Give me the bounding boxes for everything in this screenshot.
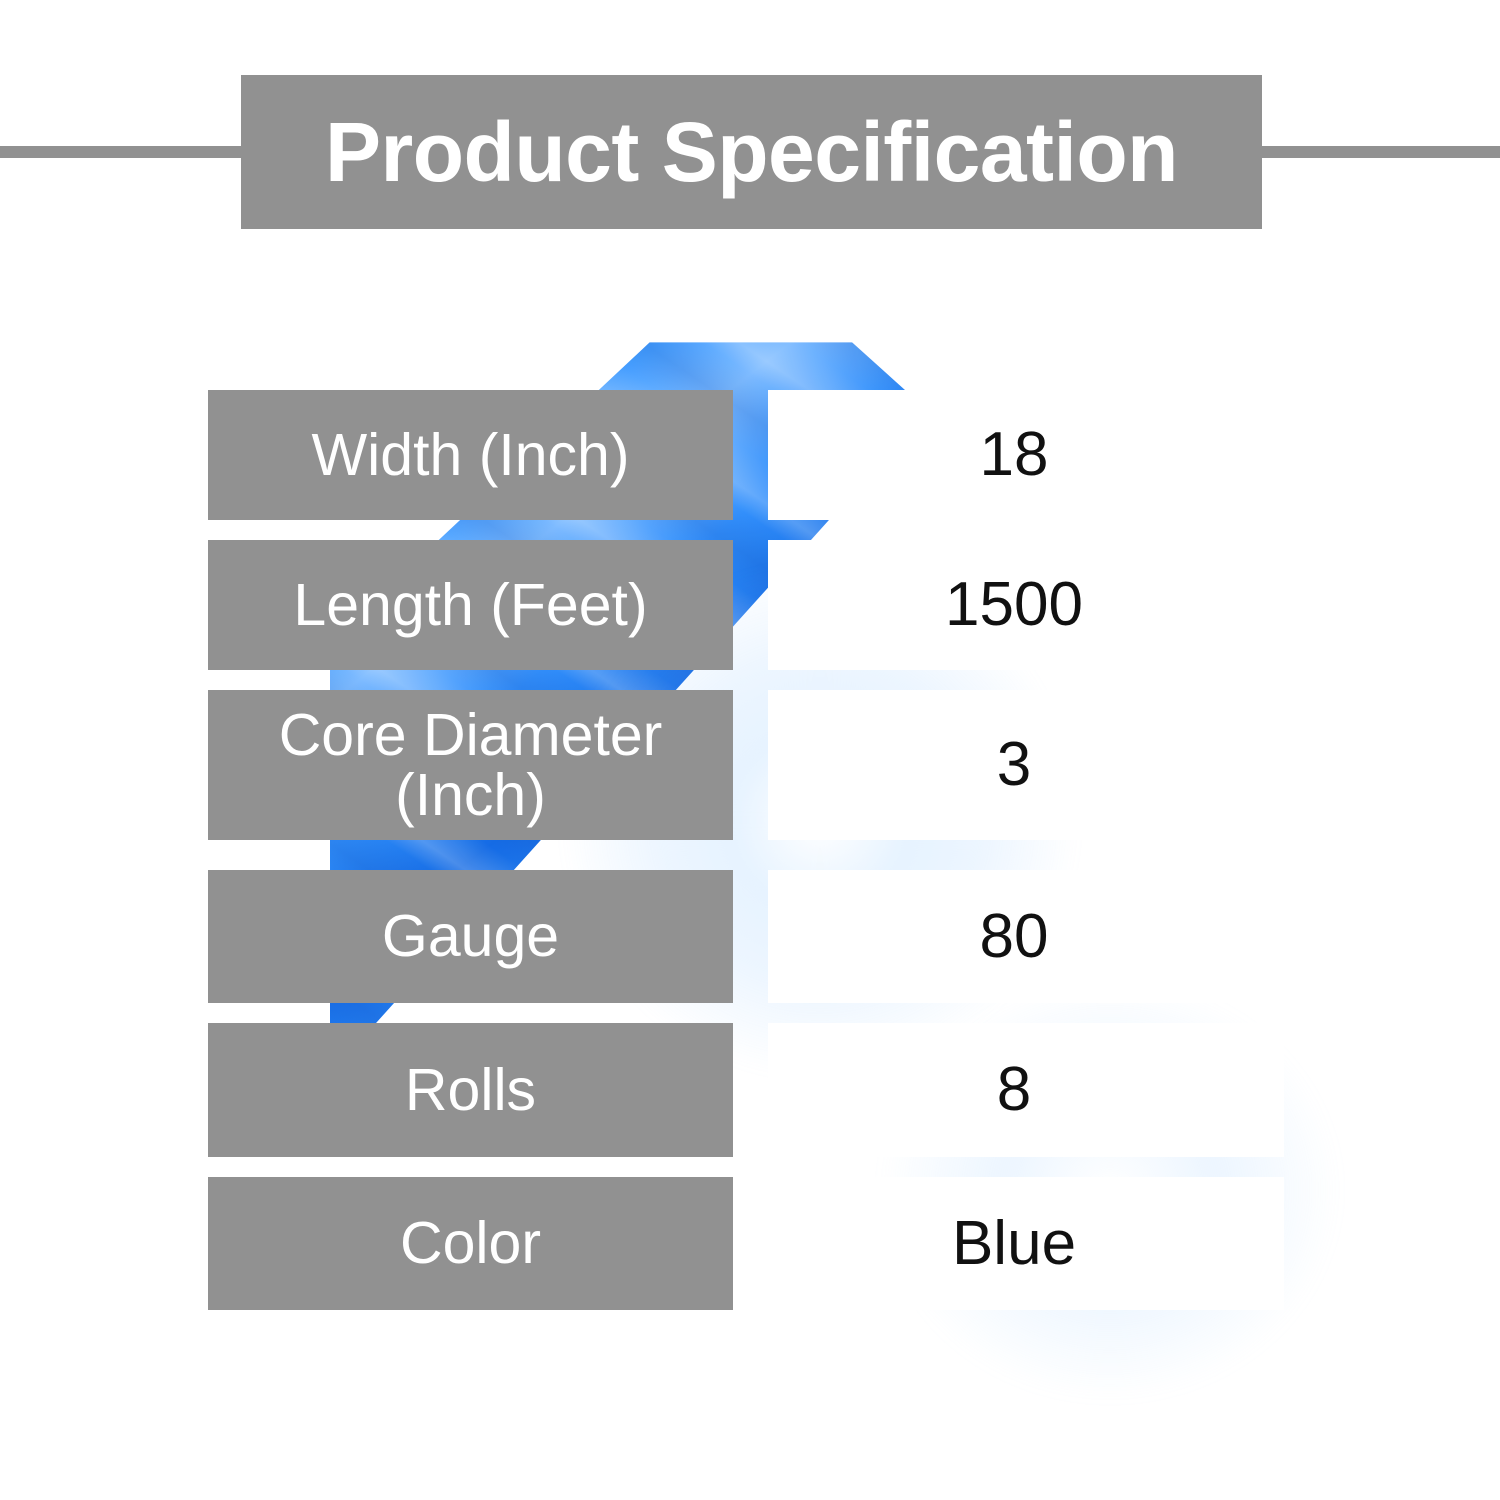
spec-label-cell: Gauge [208, 870, 733, 1003]
spec-value-text: 3 [997, 734, 1031, 796]
spec-value-cell: 1500 [768, 540, 1284, 670]
spec-label-cell: Rolls [208, 1023, 733, 1157]
spec-label-cell: Core Diameter (Inch) [208, 690, 733, 840]
spec-value-text: 8 [997, 1059, 1031, 1121]
spec-value-text: Blue [952, 1213, 1076, 1275]
spec-label-cell: Width (Inch) [208, 390, 733, 520]
product-specification-page: Product Specification Width (Inch) 18 Le… [0, 0, 1500, 1500]
spec-value-cell: Blue [768, 1177, 1284, 1310]
spec-value-text: 18 [980, 424, 1049, 486]
spec-label-text: Gauge [382, 906, 559, 966]
table-row: Gauge 80 [0, 870, 1500, 1003]
spec-value-text: 1500 [945, 574, 1083, 636]
table-row: Core Diameter (Inch) 3 [0, 690, 1500, 840]
table-row: Color Blue [0, 1177, 1500, 1310]
table-row: Length (Feet) 1500 [0, 540, 1500, 670]
spec-value-cell: 80 [768, 870, 1284, 1003]
spec-label-text: Core Diameter (Inch) [279, 705, 663, 825]
spec-label-text: Width (Inch) [311, 425, 629, 485]
spec-label-text: Rolls [405, 1060, 536, 1120]
spec-value-cell: 8 [768, 1023, 1284, 1157]
spec-label-text: Length (Feet) [293, 575, 647, 635]
table-row: Width (Inch) 18 [0, 390, 1500, 520]
table-row: Rolls 8 [0, 1023, 1500, 1157]
spec-value-text: 80 [980, 906, 1049, 968]
spec-label-text: Color [400, 1213, 541, 1273]
spec-value-cell: 3 [768, 690, 1284, 840]
spec-label-cell: Color [208, 1177, 733, 1310]
spec-label-cell: Length (Feet) [208, 540, 733, 670]
spec-value-cell: 18 [768, 390, 1284, 520]
specification-table: Width (Inch) 18 Length (Feet) 1500 Core … [0, 0, 1500, 1500]
